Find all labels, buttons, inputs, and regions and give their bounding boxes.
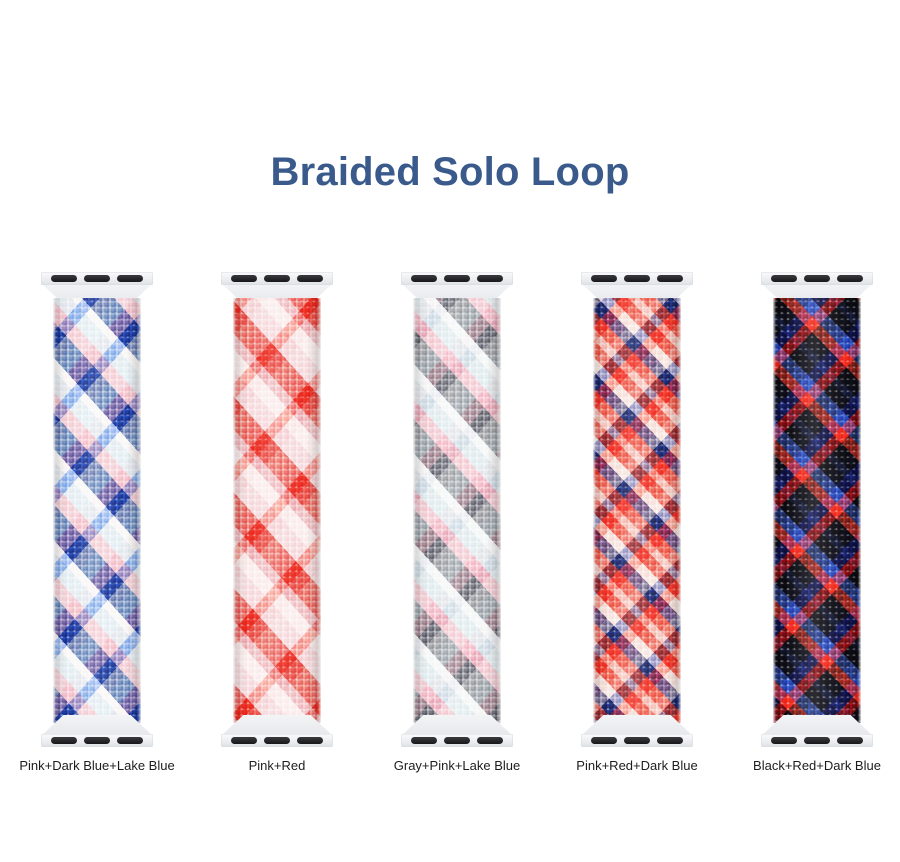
- band-pink-darkblue-lakeblue: [53, 298, 141, 723]
- lug-slot-icon: [477, 275, 503, 282]
- page-title: Braided Solo Loop: [0, 148, 900, 196]
- band-gray-pink-lakeblue: [413, 298, 501, 723]
- lug-slot-icon: [804, 275, 830, 282]
- product-item-3[interactable]: Gray+Pink+Lake Blue: [367, 272, 547, 772]
- lug-slot-icon: [657, 737, 683, 744]
- lug-slot-icon: [84, 275, 110, 282]
- lug-slot-icon: [477, 737, 503, 744]
- lug-slot-icon: [771, 737, 797, 744]
- lug-slot-icon: [297, 275, 323, 282]
- lug-slot-icon: [51, 737, 77, 744]
- band-pink-red-darkblue: [593, 298, 681, 723]
- watch-lug-connector-bottom-icon: [41, 715, 153, 747]
- lug-slot-icon: [231, 275, 257, 282]
- lug-slot-icon: [444, 737, 470, 744]
- lug-slot-icon: [591, 275, 617, 282]
- lug-slot-icon: [624, 737, 650, 744]
- lug-slot-icon: [444, 275, 470, 282]
- lug-slot-icon: [264, 275, 290, 282]
- watch-lug-connector-bottom-icon: [761, 715, 873, 747]
- lug-slot-icon: [117, 737, 143, 744]
- product-item-1[interactable]: Pink+Dark Blue+Lake Blue: [7, 272, 187, 772]
- lug-slot-icon: [591, 737, 617, 744]
- lug-slot-icon: [297, 737, 323, 744]
- product-caption: Black+Red+Dark Blue: [709, 758, 900, 774]
- watch-lug-connector-bottom-icon: [581, 715, 693, 747]
- lug-slot-icon: [84, 737, 110, 744]
- lug-slot-icon: [624, 275, 650, 282]
- lug-slot-icon: [51, 275, 77, 282]
- lug-slot-icon: [411, 275, 437, 282]
- lug-slot-icon: [264, 737, 290, 744]
- product-image-canvas: Braided Solo Loop Pink+Dark Blue+Lake Bl…: [0, 0, 900, 862]
- lug-slot-icon: [804, 737, 830, 744]
- lug-slot-icon: [771, 275, 797, 282]
- product-item-5[interactable]: Black+Red+Dark Blue: [727, 272, 900, 772]
- lug-slot-icon: [837, 275, 863, 282]
- lug-slot-icon: [231, 737, 257, 744]
- lug-slot-icon: [657, 275, 683, 282]
- watch-lug-connector-bottom-icon: [401, 715, 513, 747]
- band-black-red-darkblue: [773, 298, 861, 723]
- lug-slot-icon: [117, 275, 143, 282]
- watch-lug-connector-bottom-icon: [221, 715, 333, 747]
- band-pink-red: [233, 298, 321, 723]
- product-item-2[interactable]: Pink+Red: [187, 272, 367, 772]
- product-gallery: Pink+Dark Blue+Lake Blue Pink+Red: [0, 272, 900, 772]
- lug-slot-icon: [837, 737, 863, 744]
- product-item-4[interactable]: Pink+Red+Dark Blue: [547, 272, 727, 772]
- lug-slot-icon: [411, 737, 437, 744]
